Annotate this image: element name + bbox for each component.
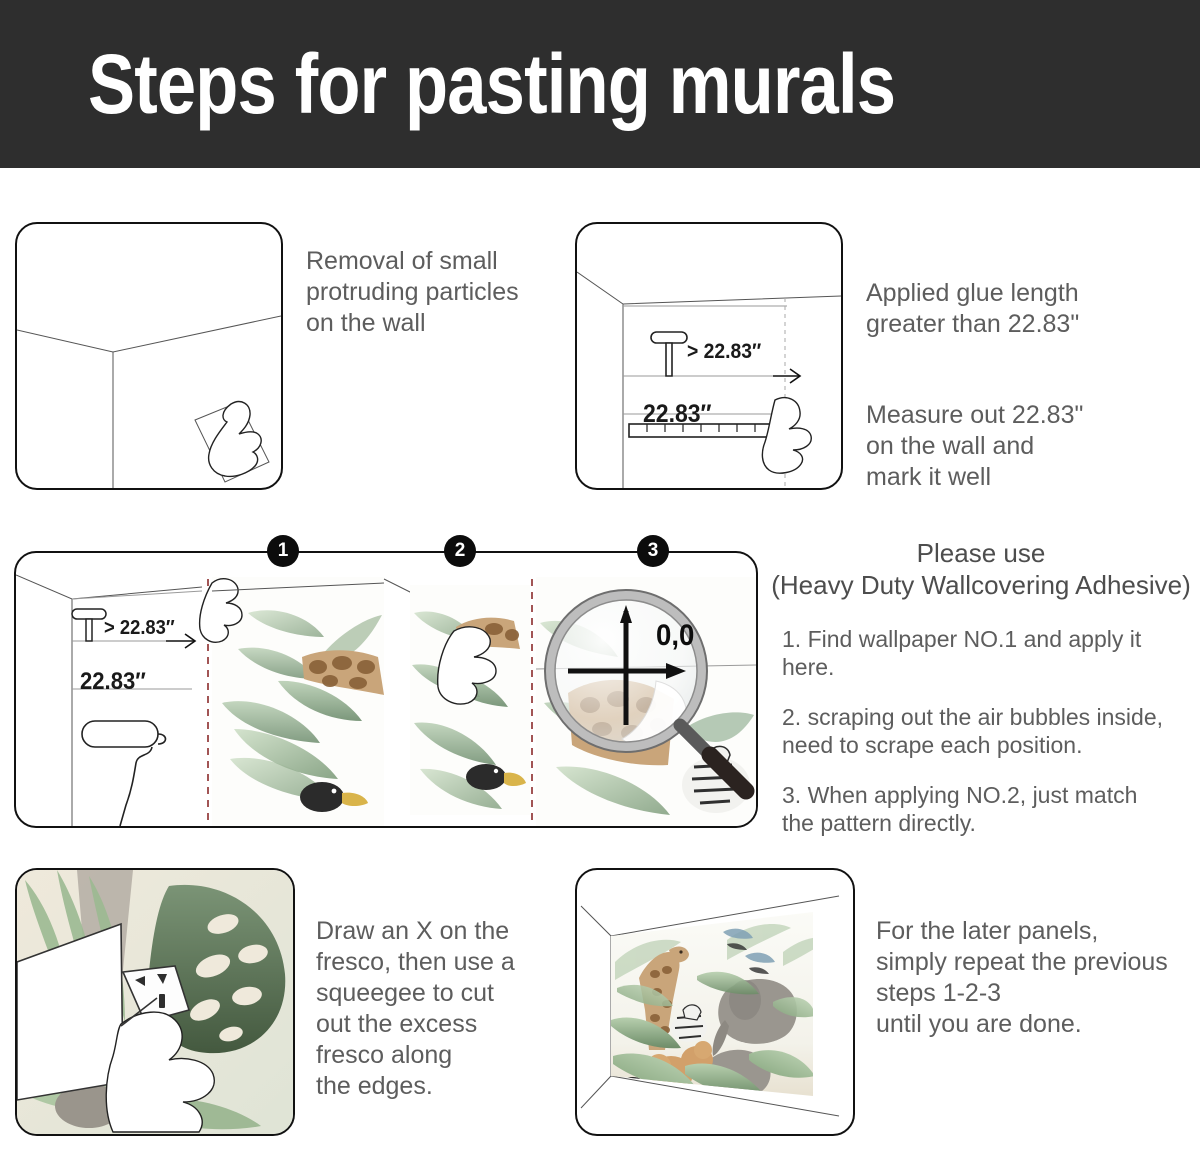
squeegee-outlet-illustration xyxy=(17,870,293,1134)
panel-2-caption-top: Applied glue length greater than 22.83" xyxy=(866,278,1186,340)
measure-length-label-mid: 22.83″ xyxy=(80,668,146,696)
numbered-instructions: 1. Find wallpaper NO.1 and apply it here… xyxy=(782,625,1192,859)
adhesive-note-line1: Please use xyxy=(917,538,1046,568)
instruction-item-2: 2. scraping out the air bubbles inside, … xyxy=(782,703,1192,759)
page-title: Steps for pasting murals xyxy=(88,36,895,133)
adhesive-note-line2: (Heavy Duty Wallcovering Adhesive) xyxy=(762,570,1200,602)
mural-instruction-sheet: Steps for pasting murals Removal of smal… xyxy=(0,0,1200,1152)
instruction-item-1: 1. Find wallpaper NO.1 and apply it here… xyxy=(782,625,1192,681)
step-badge-2: 2 xyxy=(444,535,476,567)
adhesive-note: Please use (Heavy Duty Wallcovering Adhe… xyxy=(762,538,1200,601)
panel-1-caption: Removal of small protruding particles on… xyxy=(306,246,556,339)
panel-cut-around-outlet xyxy=(15,868,295,1136)
panel-remove-particles xyxy=(15,222,283,490)
step-badge-1: 1 xyxy=(267,535,299,567)
origin-marker-label: 0,0 xyxy=(656,619,694,653)
wall-corner-sanding-illustration xyxy=(17,224,281,488)
step-badge-3: 3 xyxy=(637,535,669,567)
glue-length-label-mid: > 22.83″ xyxy=(104,617,175,640)
finished-mural-illustration xyxy=(577,870,853,1134)
panel-apply-panels-steps: > 22.83″ 22.83″ 0,0 xyxy=(14,551,758,828)
panel-repeat-later xyxy=(575,868,855,1136)
measure-length-label: 22.83″ xyxy=(643,400,712,429)
panel-4-caption: Draw an X on the fresco, then use a sque… xyxy=(316,916,566,1102)
panel-apply-glue-measure: > 22.83″ 22.83″ xyxy=(575,222,843,490)
glue-length-label: > 22.83″ xyxy=(687,340,761,364)
header-banner: Steps for pasting murals xyxy=(0,0,1200,168)
panel-5-caption: For the later panels, simply repeat the … xyxy=(876,916,1200,1040)
instruction-item-3: 3. When applying NO.2, just match the pa… xyxy=(782,781,1192,837)
panel-2-caption-bottom: Measure out 22.83" on the wall and mark … xyxy=(866,400,1186,493)
